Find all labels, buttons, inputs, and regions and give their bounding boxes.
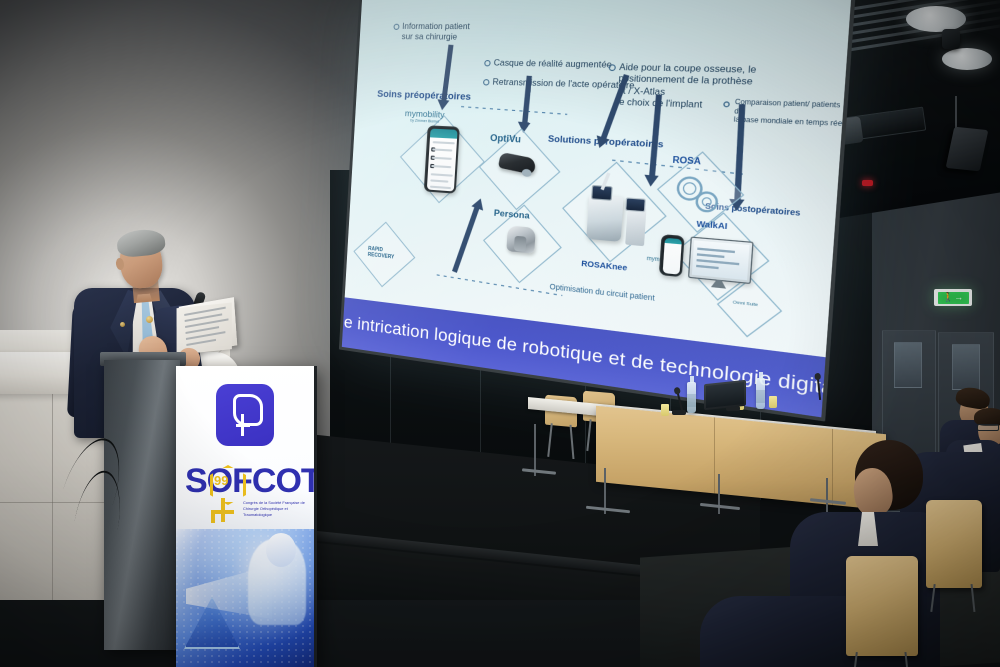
slide-annotation-1: Casque de réalité augmentée [493,58,626,72]
slide-device-rosa-robot [586,195,623,242]
door-window-left [894,342,922,388]
annotation-bullet-icon [393,24,399,30]
sofcot-subtitle-line-2: Chirurgie Orthopédique et Traumatologiqu… [243,506,315,518]
speaker-lapel-pin-2 [120,322,125,327]
slide-brand-persona: Persona [494,207,530,221]
audience-chair-2[interactable] [926,500,982,588]
slide-annotation-0: Information patient sur sa chirurgie [401,22,514,44]
banner-surgeon-artwork [176,529,314,667]
slide-brand-rosa: ROSA [672,155,701,167]
laptop-screen [706,382,744,408]
drinking-glass-2[interactable] [769,396,777,408]
phone-screen [426,128,457,191]
sofcot-banner: SOFCOT 99 Congrès de la Société Français… [176,366,317,667]
water-bottle-1[interactable] [687,382,696,413]
sofcot-logo-icon [216,384,274,446]
slide-device-phone [424,125,460,193]
door-window-right [952,344,980,390]
slide-device-rosa-cart [625,206,646,246]
slide-phase-preop: Soins préopératoires [377,89,471,103]
slide-device-knee-implant [506,225,535,253]
ceiling-light-1 [906,6,966,32]
monitor-screen [692,240,750,280]
speaker-lapel-pin [146,316,153,323]
ceiling-light-2 [942,48,992,70]
annotation-bullet-icon [483,79,490,86]
equipment-status-light [862,180,873,186]
running-person-icon: 🚶→ [943,293,963,302]
annotation-bullet-icon [484,60,491,66]
slide-device-monitor [688,237,754,285]
flow-arrow-return [452,206,480,273]
banner-surgeon-head [266,533,296,567]
speaker-printed-notes [179,297,238,355]
drinking-glass-1[interactable] [661,404,669,416]
slide-brand-rosaknee: ROSAKnee [581,258,628,273]
flow-dotline-bottom [437,274,563,296]
flow-dotline-top [461,106,567,115]
slide-annotation-4: Comparaison patient/ patients de la base… [733,99,849,130]
sofcot-edition-number: 99 [214,473,228,488]
slide-brand-mymobility-sub: by Zimmer Biomet [410,118,439,123]
sofcot-acronym: SOFCOT [185,462,317,501]
sofcot-hex-crossbar [212,510,234,514]
cart-display [625,197,646,212]
table-leg-1 [534,424,536,476]
audience-chair-1[interactable] [846,556,918,656]
emergency-exit-sign: 🚶→ [934,289,972,306]
ceiling-speaker-icon [942,29,960,49]
conference-photo-scene: 🚶→ Information patient sur sa chirurgie … [0,0,1000,667]
phone-screen-2 [662,237,681,274]
sofcot-subtitle: Congrès de la Société Française de Chiru… [243,500,315,518]
slide-brand-optivu: OptiVu [490,132,522,144]
projection-screen: Information patient sur sa chirurgie Cas… [342,0,852,417]
sofcot-subtitle-line-1: Congrès de la Société Française de [243,500,315,506]
water-bottle-2[interactable] [756,378,765,409]
table-leg-4 [826,478,828,512]
slide-pathway-label: Optimisation du circuit patient [549,284,655,303]
table-microphone-base-1 [672,410,686,415]
sofcot-wordmark: SOFCOT 99 Congrès de la Société Français… [181,462,311,518]
eyeglasses-icon [977,424,999,431]
slide-surface: Information patient sur sa chirurgie Cas… [342,0,852,417]
presenter-laptop[interactable] [704,380,746,410]
slide-device-phone-2 [659,234,685,277]
